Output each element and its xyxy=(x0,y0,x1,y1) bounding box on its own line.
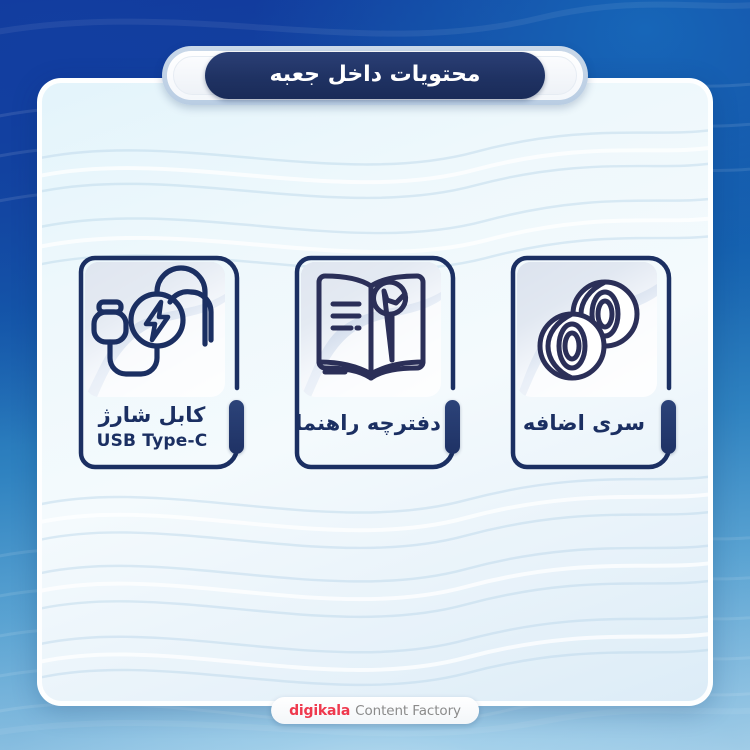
footer-subtitle: Content Factory xyxy=(355,703,461,719)
title-pill: محتویات داخل جعبه xyxy=(205,52,545,99)
manual-book-wrench-icon xyxy=(301,262,441,397)
card-label-fa: کابل شارژ xyxy=(77,402,227,428)
card-label-en: USB Type-C xyxy=(77,430,227,452)
card-extra-eartips[interactable]: سری اضافه xyxy=(505,250,677,475)
card-label-extra-eartips: سری اضافه xyxy=(509,410,659,436)
card-charging-cable[interactable]: کابل شارژ USB Type-C xyxy=(73,250,245,475)
card-accent-pill xyxy=(229,400,244,454)
card-icon-container xyxy=(517,262,657,397)
infographic-canvas: محتویات داخل جعبه xyxy=(0,0,750,750)
digikala-footer-badge: digikala Content Factory xyxy=(271,697,479,724)
card-accent-pill xyxy=(661,400,676,454)
card-icon-container xyxy=(301,262,441,397)
charging-cable-icon xyxy=(85,262,225,397)
card-icon-container xyxy=(85,262,225,397)
title-badge-ring-inner: محتویات داخل جعبه xyxy=(173,56,577,95)
page-title: محتویات داخل جعبه xyxy=(269,64,480,88)
eartips-icon xyxy=(517,262,657,397)
card-label-fa: دفترچه راهنما xyxy=(293,410,443,436)
card-user-manual[interactable]: دفترچه راهنما xyxy=(289,250,461,475)
title-badge: محتویات داخل جعبه xyxy=(162,46,588,105)
contents-card-row: کابل شارژ USB Type-C xyxy=(0,250,750,475)
card-label-user-manual: دفترچه راهنما xyxy=(293,410,443,436)
card-accent-pill xyxy=(445,400,460,454)
card-label-charging-cable: کابل شارژ USB Type-C xyxy=(77,402,227,452)
title-badge-ring-outer: محتویات داخل جعبه xyxy=(167,51,583,100)
card-label-fa: سری اضافه xyxy=(509,410,659,436)
digikala-logo-text: digikala xyxy=(289,703,350,719)
